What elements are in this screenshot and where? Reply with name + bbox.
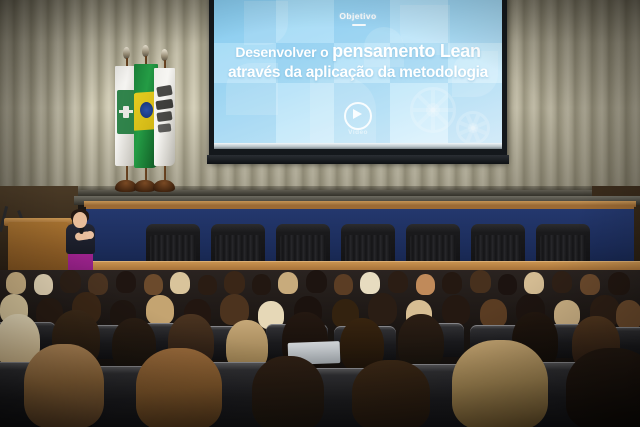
- speaker-hand: [86, 231, 94, 239]
- audience-head: [6, 272, 26, 294]
- audience-head-foreground: [252, 356, 324, 427]
- audience-head: [252, 274, 271, 295]
- audience-head: [388, 271, 408, 293]
- gear-icon: [410, 87, 456, 133]
- slide-kicker: Objetivo: [214, 11, 502, 21]
- audience-head: [60, 270, 81, 293]
- slide-headline-line2: através da aplicação da metodologia: [218, 64, 498, 83]
- slide-headline: Desenvolver o pensamento Lean através da…: [218, 41, 498, 83]
- gear-icon-small: [456, 111, 490, 145]
- audience-head: [608, 272, 630, 295]
- audience-head: [334, 274, 353, 295]
- audience-head: [198, 275, 217, 295]
- projection-screen: Objetivo Desenvolver o pensamento Lean a…: [214, 0, 502, 145]
- slide-headline-lead: Desenvolver o: [235, 44, 332, 60]
- projection-screen-frame: Objetivo Desenvolver o pensamento Lean a…: [209, 0, 507, 162]
- play-icon[interactable]: [344, 102, 372, 130]
- audience-head: [552, 271, 572, 293]
- audience-head: [306, 270, 327, 293]
- audience-head: [170, 272, 190, 294]
- slide-kicker-rule: [352, 24, 366, 26]
- speaker-head: [73, 212, 87, 228]
- audience-head: [224, 271, 245, 294]
- audience-head-foreground: [566, 348, 640, 427]
- audience-head-foreground: [452, 340, 548, 427]
- audience: [0, 270, 640, 427]
- audience-head: [524, 272, 544, 294]
- audience-head: [470, 270, 491, 293]
- auditorium-photo: Objetivo Desenvolver o pensamento Lean a…: [0, 0, 640, 427]
- audience-head: [498, 274, 517, 295]
- audience-head: [616, 300, 640, 330]
- audience-head-foreground: [136, 348, 222, 427]
- audience-head: [144, 274, 163, 295]
- audience-head: [360, 272, 380, 294]
- slide-headline-strong: pensamento Lean: [332, 41, 481, 61]
- audience-head: [278, 272, 298, 294]
- flag-institucional: [154, 68, 175, 166]
- audience-head: [146, 295, 174, 325]
- audience-head: [416, 274, 435, 295]
- audience-head: [580, 274, 600, 295]
- audience-head-foreground: [24, 344, 104, 427]
- audience-head: [34, 274, 53, 295]
- video-label: Vídeo: [214, 129, 502, 136]
- audience-head: [442, 295, 470, 325]
- screen-bottom-roll: [214, 143, 502, 149]
- audience-head: [442, 272, 462, 294]
- audience-head-foreground: [352, 360, 430, 427]
- flag-base: [153, 180, 175, 192]
- audience-head: [116, 271, 136, 293]
